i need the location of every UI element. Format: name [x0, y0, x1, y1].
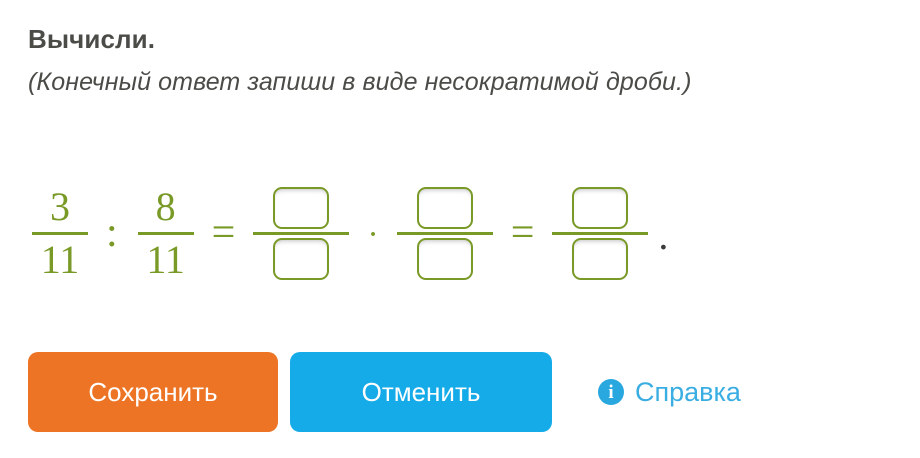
answer-3-numerator-input[interactable]: [572, 187, 628, 229]
fraction-bar: [253, 232, 349, 235]
task-statement: Вычисли. (Конечный ответ запиши в виде н…: [28, 22, 908, 100]
answer-fraction-3: [552, 187, 648, 280]
save-button[interactable]: Сохранить: [28, 352, 278, 432]
fraction-bar: [552, 232, 648, 235]
fraction-numerator: 8: [156, 184, 176, 230]
equals-operator-2: =: [511, 212, 535, 254]
page-title: Вычисли.: [28, 22, 908, 56]
help-link[interactable]: i Справка: [598, 377, 741, 408]
task-note: (Конечный ответ запиши в виде несократим…: [28, 64, 908, 100]
fraction-bar: [397, 232, 493, 235]
action-bar: Сохранить Отменить i Справка: [28, 352, 741, 432]
math-expression: 3 11 : 8 11 = · = .: [28, 168, 668, 298]
division-operator: :: [106, 212, 118, 254]
answer-1-denominator-input[interactable]: [273, 238, 329, 280]
fraction-denominator: 11: [41, 237, 80, 283]
answer-1-numerator-input[interactable]: [273, 187, 329, 229]
answer-3-denominator-input[interactable]: [572, 238, 628, 280]
answer-fraction-2: [397, 187, 493, 280]
trailing-period: .: [658, 212, 668, 259]
fraction-operand-2: 8 11: [138, 184, 194, 283]
fraction-operand-1: 3 11: [32, 184, 88, 283]
fraction-bar: [32, 232, 88, 235]
fraction-bar: [138, 232, 194, 235]
help-label: Справка: [635, 377, 741, 408]
answer-fraction-1: [253, 187, 349, 280]
equals-operator-1: =: [212, 212, 236, 254]
fraction-numerator: 3: [50, 184, 70, 230]
answer-2-denominator-input[interactable]: [417, 238, 473, 280]
multiplication-operator: ·: [367, 218, 378, 252]
cancel-button[interactable]: Отменить: [290, 352, 552, 432]
info-icon: i: [598, 379, 624, 405]
fraction-denominator: 11: [146, 237, 185, 283]
answer-2-numerator-input[interactable]: [417, 187, 473, 229]
